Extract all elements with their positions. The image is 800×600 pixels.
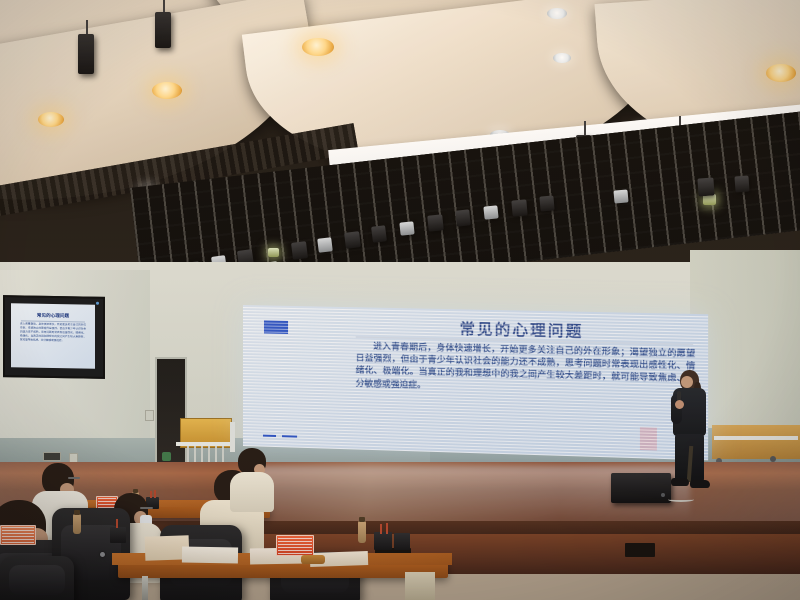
ceiling-downlight-icon [302, 38, 334, 56]
stage-par-light [483, 205, 498, 219]
presenter [668, 370, 714, 492]
stage-par-light [734, 176, 749, 193]
confidence-monitor: 常见的心理问题 进入青春期后，身体快速增长，开始更多关注自己的外在形象；渴望独立… [3, 295, 105, 379]
recessed-light-icon [547, 8, 567, 19]
stage-par-light [427, 214, 444, 231]
presenter-shoe [671, 478, 689, 486]
pen-holder [374, 532, 392, 550]
name-card [276, 535, 314, 556]
presenter-hand [675, 400, 684, 409]
bottle-cap [74, 510, 80, 515]
name-card-text [2, 527, 34, 543]
stage-par-light [539, 195, 554, 211]
slide-logo-icon [262, 318, 290, 336]
desk-document [182, 547, 238, 564]
ceiling-downlight-icon [38, 112, 64, 127]
folding-table-base [176, 442, 234, 446]
confidence-monitor-screen: 常见的心理问题 进入青春期后，身体快速增长，开始更多关注自己的外在形象；渴望独立… [11, 303, 95, 368]
pen-holder [394, 533, 410, 550]
hanging-speaker [155, 12, 171, 48]
desk-cup [301, 555, 325, 564]
recessed-light-icon [553, 53, 571, 63]
wall-outlet [145, 410, 154, 421]
eyeglasses-icon [68, 477, 80, 479]
audience-member [228, 448, 272, 508]
stage-par-light [371, 225, 387, 243]
hanging-speaker [78, 34, 94, 74]
stage-par-light [455, 209, 471, 226]
chair-stud [100, 552, 105, 557]
desk-leg [142, 576, 148, 600]
stage-right-railing [712, 425, 800, 459]
ceiling-downlight-icon [766, 64, 796, 82]
audio-cable [668, 497, 694, 502]
stage-par-light [317, 237, 333, 253]
bottle-cap [359, 517, 365, 522]
stage-par-light [511, 199, 527, 216]
stage-par-light [613, 189, 628, 203]
pen [386, 523, 388, 534]
water-bottle [358, 521, 366, 543]
ceiling-downlight-icon [152, 82, 182, 99]
slide-body-text: 进入青春期后，身体快速增长，开始更多关注自己的外在形象；渴望独立的愿望日益强烈，… [356, 341, 696, 399]
stage-par-light [291, 241, 308, 260]
slide-footer-marks [263, 435, 297, 438]
pen [380, 524, 382, 534]
stage-par-light-on [268, 248, 279, 257]
screen-color-artifact [640, 427, 657, 450]
trash-bin [162, 452, 171, 461]
eyeglasses-icon [140, 507, 153, 509]
name-card [0, 525, 36, 545]
presenter-shoe [690, 480, 710, 488]
stage-vent [625, 543, 655, 557]
auditorium-photo: 常见的心理问题 进入青春期后，身体快速增长，开始更多关注自己的外在形象；渴望独立… [0, 0, 800, 600]
monitor-power-led-icon [96, 302, 99, 305]
stage-floor-monitor-speaker [611, 473, 671, 503]
name-card-text [278, 537, 312, 554]
audience-chair[interactable] [0, 556, 74, 600]
audience-body [230, 472, 274, 512]
water-bottle [73, 514, 81, 534]
led-presentation-screen: 常见的心理问题 进入青春期后，身体快速增长，开始更多关注自己的外在形象；渴望独立… [243, 305, 708, 460]
stage-par-light [697, 177, 714, 196]
stage-par-light [399, 221, 414, 235]
pen-holder [110, 527, 126, 543]
railing-rail [714, 436, 798, 440]
presenter-face [681, 376, 693, 388]
slide-canvas: 常见的心理问题 进入青春期后，身体快速增长，开始更多关注自己的外在形象；渴望独立… [243, 305, 708, 460]
pen [116, 519, 118, 528]
wall-outlet [43, 452, 61, 461]
desk-modesty-panel [405, 572, 435, 600]
stage-par-light [344, 231, 361, 249]
monitor-slide-body: 进入青春期后，身体快速增长，开始更多关注自己的外在形象；渴望独立的愿望日益强烈，… [20, 322, 86, 343]
monitor-slide-title: 常见的心理问题 [11, 312, 95, 319]
